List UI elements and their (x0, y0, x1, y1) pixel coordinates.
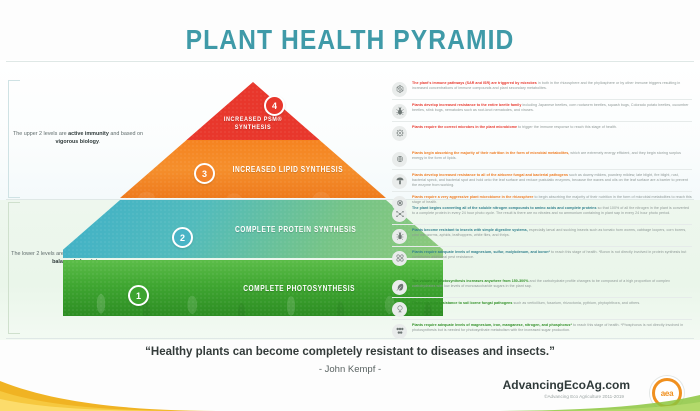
lower-note-pre: The lower 2 levels are (11, 251, 65, 257)
pyramid-tier-3[interactable]: INCREASED LIPID SYNTHESIS (63, 140, 443, 198)
protein-icon (392, 207, 407, 222)
infographic-canvas: PLANT HEALTH PYRAMID The upper 2 levels … (0, 0, 700, 411)
annotation-text: The plant's immune pathways (SAR and ISR… (412, 81, 692, 91)
annotation-bold: The plant's immune pathways (SAR and ISR… (412, 81, 537, 85)
tier-1-badge[interactable]: 1 (128, 285, 149, 306)
soilfungus-icon (392, 302, 407, 317)
tier-2-badge[interactable]: 2 (172, 227, 193, 248)
annotation-bold: Plants become resistant to insects with … (412, 228, 528, 232)
annotation-text: Plants require adequate levels of magnes… (412, 323, 692, 333)
aea-logo[interactable]: aea (650, 376, 684, 410)
fungus-icon (392, 174, 407, 189)
annotation-text: Plants develop resistance to soil borne … (412, 301, 692, 306)
annotation-row: Plants begin absorbing the majority of t… (392, 148, 692, 169)
microbe-icon (392, 126, 407, 141)
tier-3-label: INCREASED LIPID SYNTHESIS (232, 165, 343, 174)
annotation-bold: The volume of photosynthesis increases a… (412, 279, 529, 283)
minerals-icon (392, 251, 407, 266)
annotation-group-tier-1: The volume of photosynthesis increases a… (392, 276, 692, 341)
pyramid-tier-1[interactable]: COMPLETE PHOTOSYNTHESIS (63, 260, 443, 316)
pyramid-tier-2[interactable]: COMPLETE PROTEIN SYNTHESIS (63, 200, 443, 258)
annotation-row: The volume of photosynthesis increases a… (392, 276, 692, 297)
annotation-bold: The plant begins converting all of the s… (412, 206, 597, 210)
annotation-row: Plants require the correct microbes in t… (392, 121, 692, 143)
footer-copyright: ©Advancing Eco Agriculture 2011-2019 (544, 394, 624, 399)
annotation-row: The plant begins converting all of the s… (392, 203, 692, 224)
annotation-row: Plants develop increased resistance to a… (392, 169, 692, 191)
annotation-bold: Plants require a very aggressive plant m… (412, 195, 533, 199)
annotation-row: The plant's immune pathways (SAR and ISR… (392, 78, 692, 99)
annotation-row: Plants develop resistance to soil borne … (392, 297, 692, 319)
annotation-row: Plants require adequate levels of magnes… (392, 246, 692, 268)
pyramid-graphic: INCREASED PSM® SYNTHESIS INCREASED LIPID… (128, 82, 378, 330)
top-divider (6, 61, 694, 62)
annotation-bold: Plants begin absorbing the majority of t… (412, 151, 569, 155)
tier-4-badge[interactable]: 4 (264, 95, 285, 116)
annotation-bold: Plants develop increased resistance to t… (412, 103, 521, 107)
annotation-rest: to trigger the immune response to reach … (517, 125, 617, 129)
annotation-bold: Plants require adequate levels of magnes… (412, 250, 550, 254)
annotation-bold: Plants require the correct microbes in t… (412, 125, 517, 129)
annotation-text: Plants require the correct microbes in t… (412, 125, 692, 130)
annotation-bold: Plants require adequate levels of magnes… (412, 323, 572, 327)
annotation-text: The plant begins converting all of the s… (412, 206, 692, 216)
annotation-group-tier-4: The plant's immune pathways (SAR and ISR… (392, 78, 692, 143)
annotation-text: Plants begin absorbing the majority of t… (412, 151, 692, 161)
annotation-row: Plants require adequate levels of magnes… (392, 319, 692, 341)
tier-2-label: COMPLETE PROTEIN SYNTHESIS (235, 225, 356, 234)
annotation-text: Plants become resistant to insects with … (412, 228, 692, 238)
beetle-icon (392, 104, 407, 119)
tier-1-label: COMPLETE PHOTOSYNTHESIS (243, 284, 355, 293)
annotation-bold: Plants develop increased resistance to a… (412, 173, 568, 177)
insect-icon (392, 229, 407, 244)
annotation-text: The volume of photosynthesis increases a… (412, 279, 692, 289)
pull-quote: “Healthy plants can become completely re… (0, 346, 700, 358)
lipid-icon (392, 152, 407, 167)
aea-logo-text: aea (655, 381, 679, 405)
annotation-text: Plants develop increased resistance to t… (412, 103, 692, 113)
page-title: PLANT HEALTH PYRAMID (42, 24, 658, 56)
annotation-row: Plants develop increased resistance to t… (392, 99, 692, 121)
nutrients-icon (392, 324, 407, 339)
photosynthesis-icon (392, 280, 407, 295)
lower-bracket (8, 202, 20, 334)
pyramid-tier-4[interactable]: INCREASED PSM® SYNTHESIS (63, 82, 443, 140)
tier-4-label: INCREASED PSM® SYNTHESIS (219, 116, 288, 133)
molecule-icon (392, 82, 407, 97)
quote-attribution: - John Kempf - (0, 364, 700, 375)
annotation-rest: such as verticillium, fusarium, rhizocto… (512, 301, 640, 305)
footer-brand[interactable]: AdvancingEcoAg.com (503, 378, 630, 392)
annotation-text: Plants develop increased resistance to a… (412, 173, 692, 188)
annotation-row: Plants become resistant to insects with … (392, 224, 692, 246)
annotation-group-tier-2: The plant begins converting all of the s… (392, 203, 692, 268)
annotation-text: Plants require adequate levels of magnes… (412, 250, 692, 260)
upper-note-pre: The upper 2 levels are (13, 131, 68, 137)
tier-3-badge[interactable]: 3 (194, 163, 215, 184)
annotation-bold: Plants develop resistance to soil borne … (412, 301, 512, 305)
